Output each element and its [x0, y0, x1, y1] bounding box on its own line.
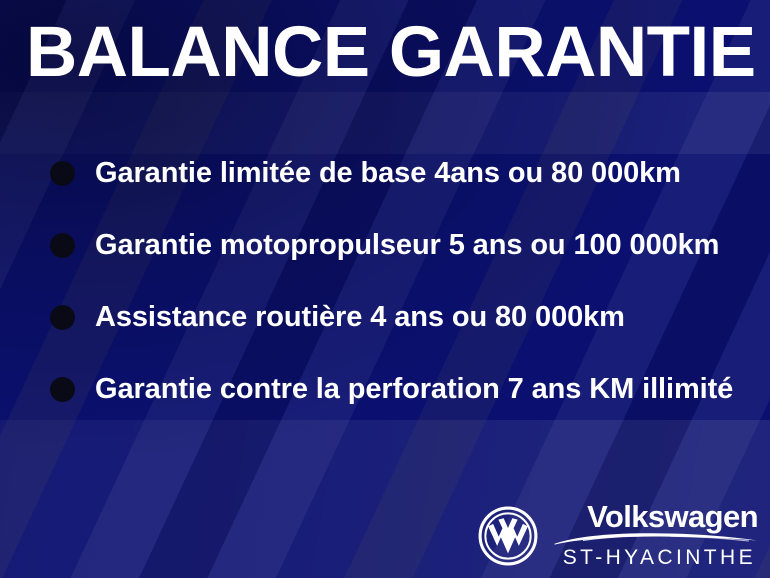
logo-text-block: Volkswagen ST-HYACINTHE [553, 501, 758, 570]
promo-slide: BALANCE GARANTIE Garantie limitée de bas… [0, 0, 770, 578]
brush-stroke-icon [553, 532, 758, 545]
bullet-dot-icon [50, 161, 75, 186]
list-item-label: Garantie motopropulseur 5 ans ou 100 000… [95, 229, 719, 262]
bullet-dot-icon [50, 305, 75, 330]
volkswagen-roundel-icon [477, 505, 539, 567]
slide-content: BALANCE GARANTIE Garantie limitée de bas… [0, 0, 770, 578]
dealer-logo: Volkswagen ST-HYACINTHE [477, 501, 758, 570]
list-item: Garantie limitée de base 4ans ou 80 000k… [50, 137, 760, 209]
list-item: Assistance routière 4 ans ou 80 000km [50, 281, 760, 353]
bullet-dot-icon [50, 377, 75, 402]
list-item-label: Assistance routière 4 ans ou 80 000km [95, 301, 625, 334]
list-item-label: Garantie limitée de base 4ans ou 80 000k… [95, 157, 681, 190]
list-item-label: Garantie contre la perforation 7 ans KM … [95, 373, 733, 406]
list-item: Garantie motopropulseur 5 ans ou 100 000… [50, 209, 760, 281]
warranty-list: Garantie limitée de base 4ans ou 80 000k… [50, 137, 760, 425]
brand-name: Volkswagen [587, 501, 758, 533]
dealer-name: ST-HYACINTHE [563, 546, 758, 570]
bullet-dot-icon [50, 233, 75, 258]
page-title: BALANCE GARANTIE [26, 14, 756, 92]
list-item: Garantie contre la perforation 7 ans KM … [50, 353, 760, 425]
